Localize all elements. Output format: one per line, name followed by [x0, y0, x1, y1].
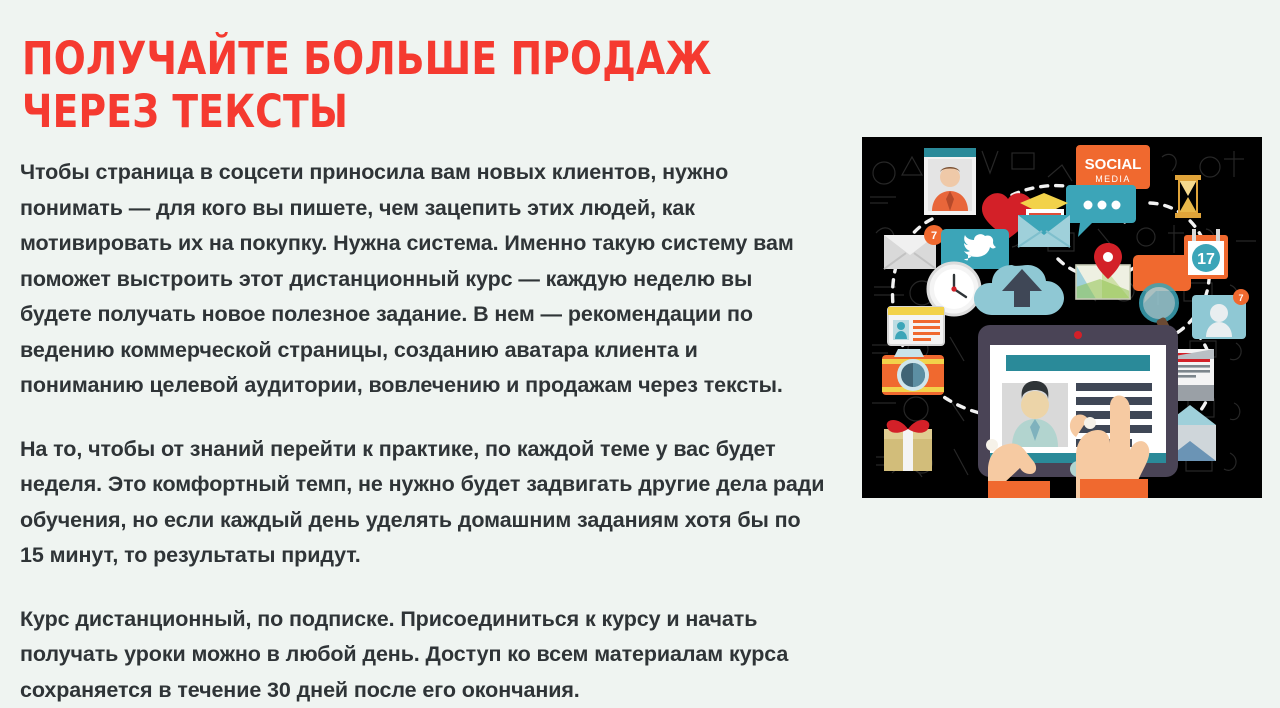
- social-media-illustration: SOCIAL MEDIA: [862, 137, 1262, 498]
- paragraph-3: Курс дистанционный, по подписке. Присоед…: [20, 602, 826, 708]
- mail-badge: 7: [931, 230, 937, 242]
- paragraph-2: На то, чтобы от знаний перейти к практик…: [20, 432, 826, 574]
- profile-badge: 7: [1238, 293, 1243, 303]
- landing-page: ПОЛУЧАЙТЕ БОЛЬШЕ ПРОДАЖ ЧЕРЕЗ ТЕКСТЫ Что…: [0, 0, 1280, 663]
- social-bubble-line1: SOCIAL: [1085, 156, 1142, 173]
- calendar-day: 17: [1197, 251, 1215, 268]
- paragraph-1: Чтобы страница в соцсети приносила вам н…: [20, 155, 826, 404]
- page-title: ПОЛУЧАЙТЕ БОЛЬШЕ ПРОДАЖ ЧЕРЕЗ ТЕКСТЫ: [22, 32, 766, 138]
- social-bubble-line2: MEDIA: [1095, 174, 1131, 184]
- body-copy: Чтобы страница в соцсети приносила вам н…: [20, 155, 826, 708]
